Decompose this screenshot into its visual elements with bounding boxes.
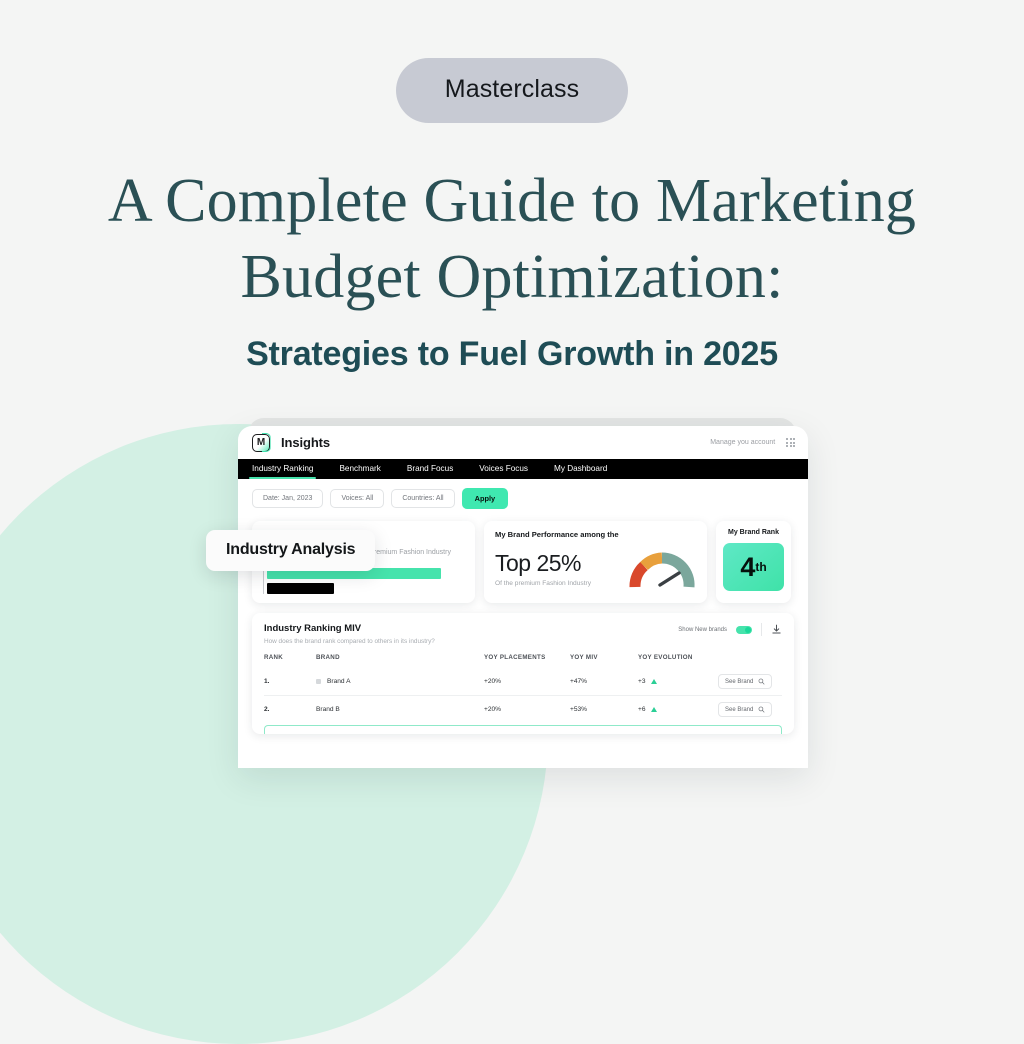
cell-placements: +20% <box>484 696 570 724</box>
table-header-row: RANK BRAND YOY PLACEMENTS YOY MIV YOY EV… <box>264 654 782 668</box>
table-heading-group: Industry Ranking MIV How does the brand … <box>264 623 435 645</box>
column-brand: BRAND <box>316 654 484 668</box>
table-row[interactable]: 1. Brand A +20% +47% +3 <box>264 668 782 696</box>
insights-logo-icon: M <box>252 434 270 452</box>
bar-industry <box>267 583 334 594</box>
table-row[interactable]: 2. Brand B +20% +53% +6 <box>264 696 782 724</box>
rank-value-box: 4 th <box>723 543 784 591</box>
see-brand-button[interactable]: See Brand <box>718 674 772 689</box>
cell-rank: 2. <box>264 696 316 724</box>
column-yoy-evolution: YOY EVOLUTION <box>638 654 718 668</box>
brand-cell: Brand A <box>316 678 484 685</box>
card-brand-rank: My Brand Rank 4 th <box>716 521 791 603</box>
download-icon[interactable] <box>771 624 782 635</box>
evolution-value: +3 <box>638 678 646 685</box>
filter-countries[interactable]: Countries: All <box>391 489 454 508</box>
filter-bar: Date: Jan, 2023 Voices: All Countries: A… <box>238 479 808 518</box>
cell-placements: +20% <box>484 668 570 696</box>
brand-cell: Brand B <box>316 706 484 713</box>
show-new-brands-label: Show New brands <box>678 627 727 633</box>
column-actions <box>718 654 782 668</box>
column-rank: RANK <box>264 654 316 668</box>
page-subtitle: Strategies to Fuel Growth in 2025 <box>0 335 1024 374</box>
evolution-value: +6 <box>638 706 646 713</box>
cell-evolution: +3 <box>638 668 718 696</box>
dashboard-nav: Industry Ranking Benchmark Brand Focus V… <box>238 459 808 479</box>
column-yoy-miv: YOY MIV <box>570 654 638 668</box>
brand-name: Brand A <box>327 678 350 685</box>
show-new-brands-toggle[interactable] <box>736 626 752 634</box>
legend-label: Premium Fashion Industry <box>369 549 451 556</box>
evolution-cell: +3 <box>638 678 718 685</box>
masterclass-badge: Masterclass <box>396 58 628 123</box>
cell-rank: 1. <box>264 668 316 696</box>
industry-ranking-table-card: Industry Ranking MIV How does the brand … <box>252 613 794 734</box>
column-yoy-placements: YOY PLACEMENTS <box>484 654 570 668</box>
nav-tab-brand-focus[interactable]: Brand Focus <box>407 464 453 474</box>
manage-account-link[interactable]: Manage you account <box>710 439 775 446</box>
evolution-cell: +6 <box>638 706 718 713</box>
header-actions: Manage you account <box>710 438 795 447</box>
dashboard-preview: M Insights Manage you account Industry R… <box>238 426 808 768</box>
page-title-line-2: Budget Optimization: <box>241 243 784 311</box>
apply-button[interactable]: Apply <box>462 488 509 509</box>
search-icon <box>758 678 765 685</box>
card-title: My Brand Rank <box>723 529 784 536</box>
brand-name: Insights <box>281 435 330 450</box>
gauge-chart-icon <box>629 547 695 589</box>
industry-ranking-table: RANK BRAND YOY PLACEMENTS YOY MIV YOY EV… <box>264 654 782 723</box>
apps-grid-icon[interactable] <box>786 438 795 447</box>
see-brand-label: See Brand <box>725 707 753 713</box>
industry-analysis-label: Industry Analysis <box>206 530 375 571</box>
rank-number: 4 <box>740 554 755 581</box>
table-tools: Show New brands <box>678 623 782 636</box>
nav-tab-benchmark[interactable]: Benchmark <box>339 464 380 474</box>
brand-name: Brand B <box>316 706 340 713</box>
filter-date[interactable]: Date: Jan, 2023 <box>252 489 323 508</box>
page-title: A Complete Guide to Marketing Budget Opt… <box>0 163 1024 315</box>
see-brand-label: See Brand <box>725 679 753 685</box>
search-icon <box>758 706 765 713</box>
bar-chart <box>263 568 464 594</box>
trend-up-icon <box>651 679 657 684</box>
table-header: Industry Ranking MIV How does the brand … <box>264 623 782 645</box>
cell-action: See Brand <box>718 696 782 724</box>
nav-tab-industry-ranking[interactable]: Industry Ranking <box>252 464 313 474</box>
dashboard-header: M Insights Manage you account <box>238 426 808 459</box>
logo-glyph: M <box>257 438 265 448</box>
page-title-line-1: A Complete Guide to Marketing <box>108 167 916 235</box>
cell-action: See Brand <box>718 668 782 696</box>
see-brand-button[interactable]: See Brand <box>718 702 772 717</box>
rank-ordinal: th <box>755 560 766 574</box>
table-title: Industry Ranking MIV <box>264 623 435 634</box>
highlighted-row-partial[interactable] <box>264 725 782 734</box>
card-title: My Brand Performance among the <box>495 530 696 539</box>
tools-divider <box>761 623 762 636</box>
nav-tab-voices-focus[interactable]: Voices Focus <box>479 464 528 474</box>
card-brand-performance: My Brand Performance among the Top 25% O… <box>484 521 707 603</box>
trend-up-icon <box>651 707 657 712</box>
table-description: How does the brand rank compared to othe… <box>264 638 435 645</box>
cell-brand: Brand A <box>316 668 484 696</box>
brand-logo-placeholder-icon <box>316 679 321 684</box>
cell-evolution: +6 <box>638 696 718 724</box>
cell-brand: Brand B <box>316 696 484 724</box>
hero-section: Masterclass A Complete Guide to Marketin… <box>0 0 1024 374</box>
cell-miv: +53% <box>570 696 638 724</box>
nav-tab-my-dashboard[interactable]: My Dashboard <box>554 464 607 474</box>
filter-voices[interactable]: Voices: All <box>330 489 384 508</box>
cell-miv: +47% <box>570 668 638 696</box>
